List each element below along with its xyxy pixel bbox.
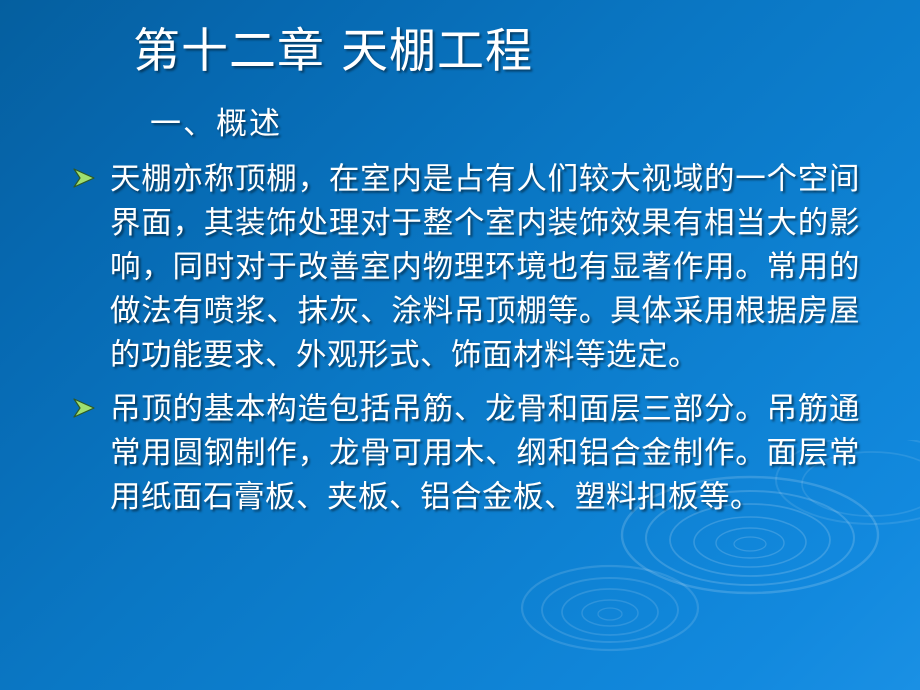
presentation-slide: 第十二章 天棚工程 一、概述 天棚亦称顶棚，在室内是占有人们较大视域的一个空间界… bbox=[0, 0, 920, 690]
list-item: 吊顶的基本构造包括吊筋、龙骨和面层三部分。吊筋通常用圆钢制作，龙骨可用木、纲和铝… bbox=[70, 388, 860, 520]
bullet-paragraph: 天棚亦称顶棚，在室内是占有人们较大视域的一个空间界面，其装饰处理对于整个室内装饰… bbox=[110, 158, 860, 378]
green-arrow-bullet-icon bbox=[72, 397, 98, 419]
slide-subtitle: 一、概述 bbox=[150, 106, 282, 143]
bullet-paragraph: 吊顶的基本构造包括吊筋、龙骨和面层三部分。吊筋通常用圆钢制作，龙骨可用木、纲和铝… bbox=[110, 388, 860, 520]
list-item: 天棚亦称顶棚，在室内是占有人们较大视域的一个空间界面，其装饰处理对于整个室内装饰… bbox=[70, 158, 860, 378]
green-arrow-bullet-icon bbox=[72, 167, 98, 189]
slide-title: 第十二章 天棚工程 bbox=[133, 24, 533, 79]
bullet-list: 天棚亦称顶棚，在室内是占有人们较大视域的一个空间界面，其装饰处理对于整个室内装饰… bbox=[70, 158, 860, 530]
